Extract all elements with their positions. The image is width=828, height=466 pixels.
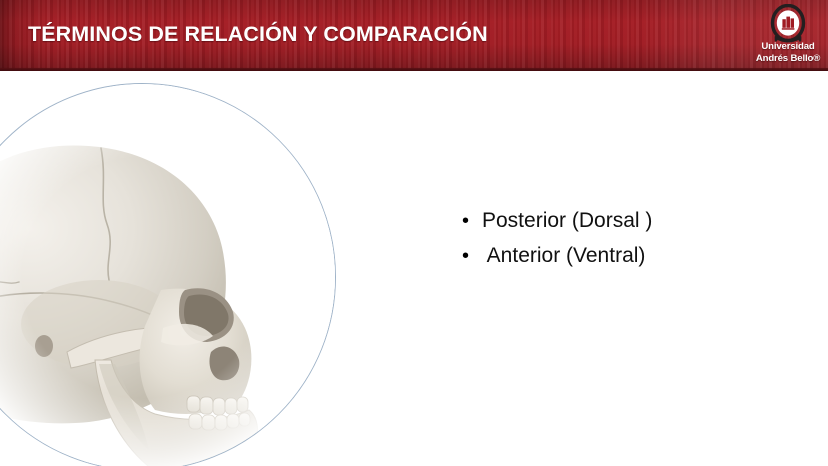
- logo-line-2: Andrés Bello®: [752, 53, 824, 65]
- bullet-marker-icon: •: [462, 241, 482, 271]
- slide-header-banner: TÉRMINOS DE RELACIÓN Y COMPARACIÓN Unive…: [0, 0, 828, 71]
- slide-canvas: TÉRMINOS DE RELACIÓN Y COMPARACIÓN Unive…: [0, 0, 828, 466]
- list-item: • Anterior (Ventral): [462, 241, 762, 276]
- bullet-label: Posterior (Dorsal ): [482, 206, 652, 236]
- university-logo: Universidad Andrés Bello®: [752, 4, 824, 68]
- university-crest-icon: [768, 4, 808, 44]
- bullet-label: Anterior (Ventral): [482, 241, 645, 271]
- bullet-marker-icon: •: [462, 206, 482, 236]
- university-logo-text: Universidad Andrés Bello®: [752, 41, 824, 64]
- logo-line-1: Universidad: [752, 41, 824, 53]
- skull-image-frame: [0, 83, 336, 466]
- header-bottom-edge: [0, 68, 828, 71]
- list-item: • Posterior (Dorsal ): [462, 206, 762, 241]
- bullet-list: • Posterior (Dorsal ) • Anterior (Ventra…: [462, 206, 762, 276]
- page-title: TÉRMINOS DE RELACIÓN Y COMPARACIÓN: [28, 22, 488, 47]
- lateral-skull-photograph: [0, 84, 336, 466]
